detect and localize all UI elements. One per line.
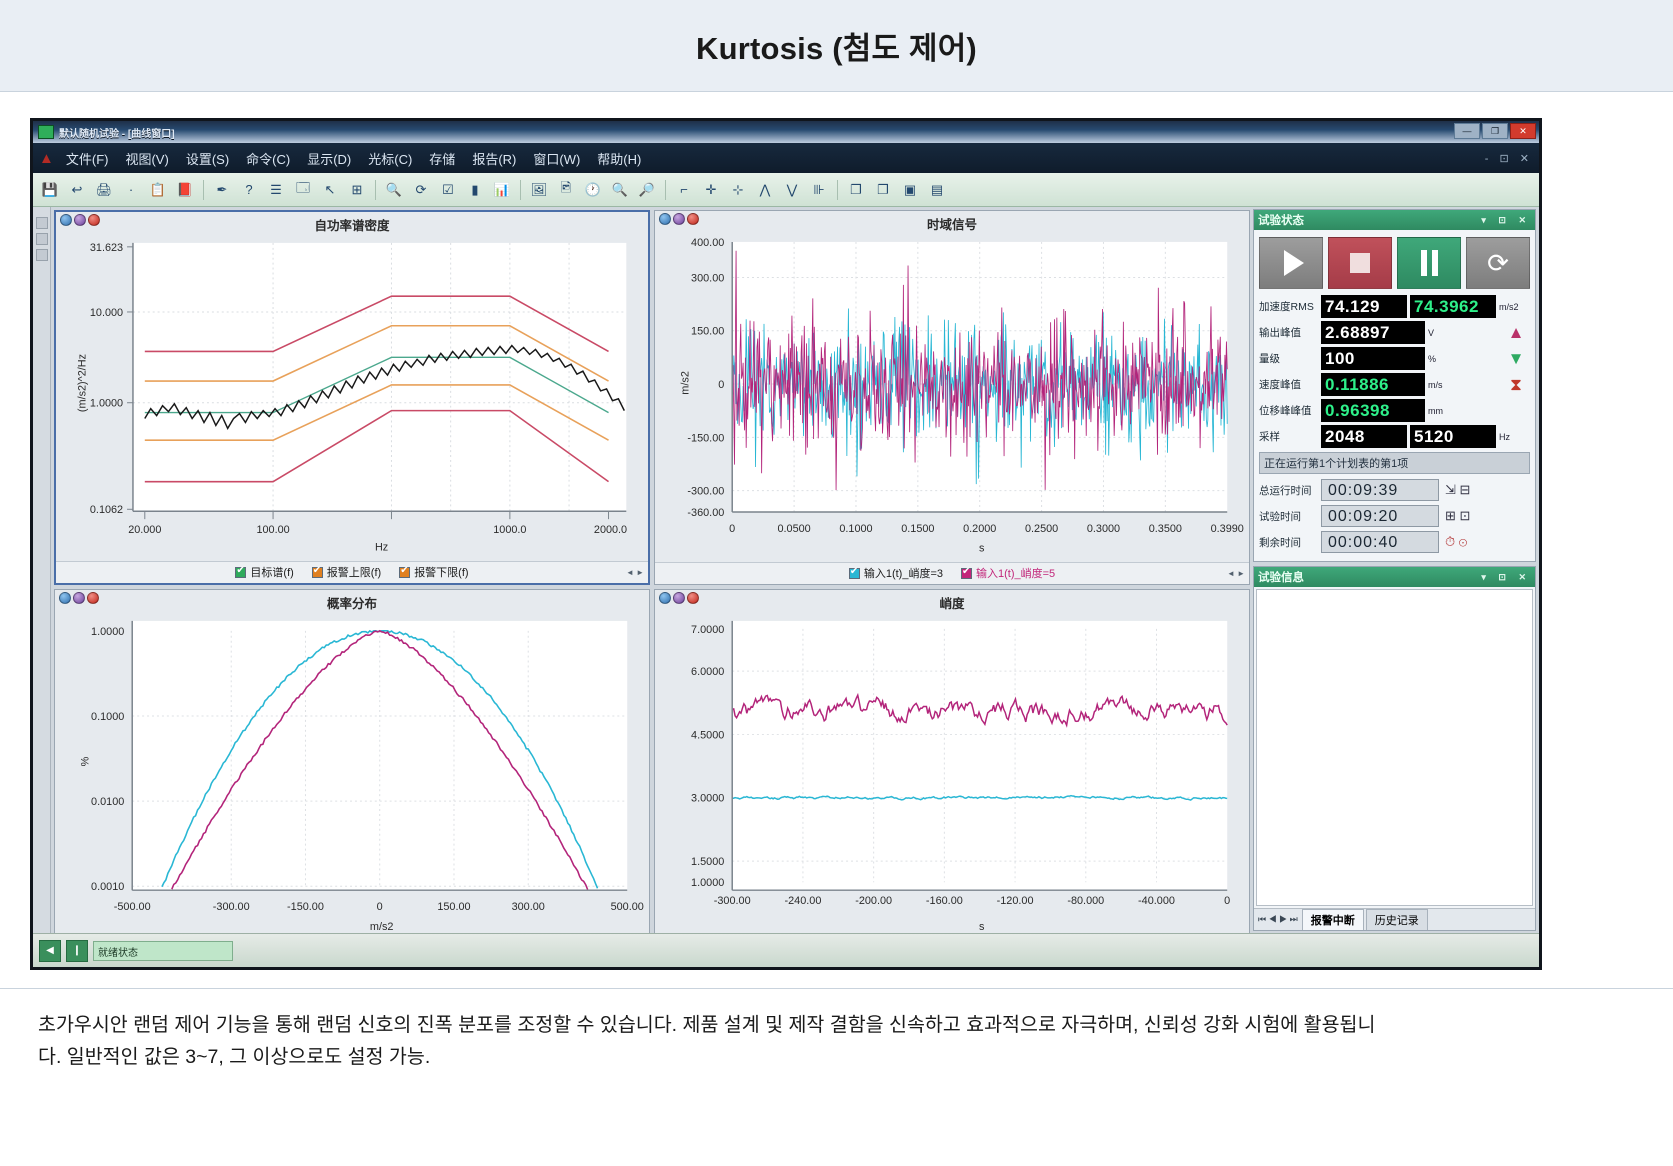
panel-close-icon[interactable] — [687, 592, 699, 604]
undo-icon[interactable]: ↩ — [65, 178, 89, 202]
test-status-panel: 试验状态 ▾ ⊡ ✕ ⟳ 加速度RMS — [1253, 209, 1536, 562]
pdf-xtick-0: -500.00 — [114, 901, 151, 913]
measurement-label: 采样 — [1259, 429, 1321, 444]
status-bar: ◀ ❙ 就绪状态 — [33, 933, 1539, 967]
kurt-ytick-3: 3.0000 — [691, 792, 724, 804]
save-icon[interactable]: 💾 — [38, 178, 62, 202]
tab-history[interactable]: 历史记录 — [1366, 909, 1428, 930]
rail-button-3[interactable] — [36, 249, 48, 261]
timer-label: 剩余时间 — [1259, 535, 1321, 550]
time-xtick-3: 0.1500 — [901, 523, 934, 535]
legend-checkbox[interactable] — [312, 567, 323, 578]
pause-button[interactable] — [1397, 237, 1461, 289]
help-icon[interactable]: ? — [237, 178, 261, 202]
crosshair-icon[interactable]: ⊹ — [726, 178, 750, 202]
test-status-header-buttons[interactable]: ▾ ⊡ ✕ — [1481, 215, 1531, 226]
test-info-header: 试验信息 ▾ ⊡ ✕ — [1254, 567, 1535, 587]
test-info-content[interactable] — [1256, 589, 1533, 906]
measurement-label: 加速度RMS — [1259, 299, 1321, 314]
caption-line-2: 다. 일반적인 값은 3~7, 그 이상으로도 설정 가능. — [38, 1041, 1635, 1073]
measurement-value-2: 74.3962 — [1410, 295, 1496, 318]
legend-checkbox[interactable] — [961, 568, 972, 579]
work-area: 自功率谱密度 — [33, 207, 1539, 933]
pdf-xtick-5: 300.00 — [512, 901, 545, 913]
measurement-label: 位移峰峰值 — [1259, 403, 1321, 418]
cross-icon[interactable]: ✛ — [699, 178, 723, 202]
caption-block: 초가우시안 랜덤 제어 기능을 통해 랜덤 신호의 진폭 분포를 조정할 수 있… — [0, 988, 1673, 1073]
window-title: 默认随机试验 - [曲线窗口] — [59, 125, 175, 140]
check-icon[interactable]: ☑ — [436, 178, 460, 202]
measurement-label: 量级 — [1259, 351, 1321, 366]
statusbar-field: 就绪状态 — [93, 941, 233, 961]
timer-value: 00:09:39 — [1321, 479, 1439, 501]
menu-bar: ▲ 文件(F) 视图(V) 设置(S) 命令(C) 显示(D) 光标(C) 存储… — [33, 143, 1539, 173]
rail-button-2[interactable] — [36, 233, 48, 245]
kurt-xtick-6: -40.000 — [1138, 895, 1175, 907]
measurement-value: 0.11886 — [1321, 373, 1425, 396]
left-rail — [33, 207, 51, 933]
page-header: Kurtosis (첨도 제어) — [0, 0, 1673, 92]
measurement-unit: Hz — [1499, 432, 1523, 442]
measurement-label: 速度峰值 — [1259, 377, 1321, 392]
psd-xtick-2: 1000.0 — [493, 524, 526, 536]
legend-item[interactable]: 输入1(t)_峭度=5 — [961, 565, 1055, 581]
pdf-ylabel: % — [80, 756, 92, 766]
measurement-unit: V — [1428, 328, 1452, 338]
time-xtick-2: 0.1000 — [839, 523, 872, 535]
timer-icons[interactable]: ⊞ ⊡ — [1445, 508, 1470, 524]
legend-item[interactable]: 目标谱(f) — [235, 564, 293, 580]
panel-close-icon[interactable] — [687, 213, 699, 225]
time-xtick-4: 0.2000 — [963, 523, 996, 535]
panel-time-plot[interactable]: 400.00300.00150.000-150.00-300.00-360.00… — [655, 234, 1249, 562]
menu-item-settings[interactable]: 设置(S) — [186, 149, 229, 168]
toolbar-separator — [375, 180, 376, 200]
refresh-icon[interactable]: ⟳ — [409, 178, 433, 202]
kurt-xtick-0: -300.00 — [714, 895, 751, 907]
legend-label: 输入1(t)_峭度=5 — [976, 565, 1055, 581]
stop-button[interactable] — [1328, 237, 1392, 289]
pen-icon[interactable]: ✒ — [210, 178, 234, 202]
timer-icons[interactable]: ⏱ ⊙ — [1445, 534, 1467, 550]
panel-time-title: 时域信号 — [655, 211, 1249, 234]
psd-xtick-0: 20.000 — [128, 524, 161, 536]
list-icon[interactable]: ☰ — [264, 178, 288, 202]
test-status-body: ⟳ 加速度RMS 74.129 74.3962 m/s2 输出峰值 2.6889… — [1254, 230, 1535, 561]
pdf-xtick-3: 0 — [377, 901, 383, 913]
timer-row-total: 总运行时间 00:09:39 ⇲ ⊟ — [1259, 479, 1530, 501]
panel-info-icon[interactable] — [659, 213, 671, 225]
measurement-unit: m/s2 — [1499, 302, 1523, 312]
timer-row-remaining: 剩余时间 00:00:40 ⏱ ⊙ — [1259, 531, 1530, 553]
test-info-tabs: ⏮ ◀ ▶ ⏭ 报警中断 历史记录 — [1254, 908, 1535, 930]
caption-line-1: 초가우시안 랜덤 제어 기능을 통해 랜덤 신호의 진폭 분포를 조정할 수 있… — [38, 1009, 1635, 1041]
copy-icon[interactable]: ❐ — [844, 178, 868, 202]
measurement-value: 2.68897 — [1321, 321, 1425, 344]
panel-psd-legend: 目标谱(f) 报警上限(f) 报警下限(f) ◄ ► — [56, 561, 648, 583]
psd-xlabel: Hz — [375, 542, 388, 554]
time-xtick-1: 0.0500 — [777, 523, 810, 535]
menu-item-file[interactable]: 文件(F) — [66, 149, 109, 168]
toolbar-separator — [203, 180, 204, 200]
pdf-xtick-4: 150.00 — [437, 901, 470, 913]
statusbar-button-1[interactable]: ◀ — [39, 940, 61, 962]
legend-scroll-buttons[interactable]: ◄ ► — [626, 568, 644, 577]
toolbar: 💾↩🖨·📋📕✒?☰🗔↖⊞🔍⟳☑▮📊🖼🖻🕐🔍🔎⌐✛⊹⋀⋁⊪❐❐▣▤ — [33, 173, 1539, 207]
window-controls: — ❐ ✕ — [1454, 123, 1536, 139]
psd-ytick-3: 0.1062 — [90, 504, 123, 516]
psd-xtick-1: 100.00 — [256, 524, 289, 536]
kurt-xtick-3: -160.00 — [926, 895, 963, 907]
pdf-icon[interactable]: 📕 — [173, 178, 197, 202]
kurt-ytick-0: 7.0000 — [691, 623, 724, 635]
menu-item-command[interactable]: 命令(C) — [246, 149, 290, 168]
panel-kurt-plot[interactable]: 7.00006.00004.50003.00001.50001.0000-300… — [655, 613, 1249, 940]
menu-item-help[interactable]: 帮助(H) — [597, 149, 641, 168]
kurt-ytick-2: 4.5000 — [691, 729, 724, 741]
time-xlabel: s — [979, 543, 985, 555]
timer-value: 00:00:40 — [1321, 531, 1439, 553]
layout-icon[interactable]: ▣ — [898, 178, 922, 202]
page-root: Kurtosis (첨도 제어) 默认随机试验 - [曲线窗口] — ❐ ✕ ▲… — [0, 0, 1673, 1166]
panel-kurtosis[interactable]: 峭度 7.00006.00004.50003.00001.50001.0000-… — [654, 589, 1250, 963]
panel-settings-icon[interactable] — [73, 592, 85, 604]
measurement-label: 输出峰值 — [1259, 325, 1321, 340]
arrow-down-icon: ▼ — [1508, 350, 1525, 367]
measurement-unit: mm — [1428, 406, 1452, 416]
legend-label: 报警下限(f) — [414, 564, 468, 580]
panel-info-icon[interactable] — [659, 592, 671, 604]
arrow-up-button[interactable]: ▲ — [1502, 324, 1530, 341]
mdi-window-controls[interactable]: - ⊡ ✕ — [1485, 152, 1533, 165]
time-ytick-5: -300.00 — [687, 486, 724, 498]
chart-icon[interactable]: 📊 — [490, 178, 514, 202]
zoom-page-icon[interactable]: 🔍 — [382, 178, 406, 202]
pdf-ytick-3: 0.0010 — [91, 881, 124, 893]
toolbar-separator — [837, 180, 838, 200]
measurement-value: 100 — [1321, 347, 1425, 370]
print-icon[interactable]: 🖨 — [92, 178, 116, 202]
timer-label: 试验时间 — [1259, 509, 1321, 524]
dot-icon[interactable]: · — [119, 178, 143, 202]
panel-psd-plot[interactable]: 31.623 10.000 1.0000 0.1062 20.000 100.0… — [56, 235, 648, 561]
close-button[interactable]: ✕ — [1510, 123, 1536, 139]
transport-controls: ⟳ — [1259, 237, 1530, 289]
measurement-row-output-peak: 输出峰值 2.68897 V ▲ — [1259, 321, 1530, 344]
panel-time-signal[interactable]: 时域信号 400.00300.00150.000-150.00-300.00-3… — [654, 210, 1250, 585]
timer-icons[interactable]: ⇲ ⊟ — [1445, 482, 1470, 498]
timer-label: 总运行时间 — [1259, 483, 1321, 498]
pdf-xtick-1: -300.00 — [213, 901, 250, 913]
window-icon[interactable]: 🗔 — [291, 178, 315, 202]
measurement-row-rms: 加速度RMS 74.129 74.3962 m/s2 — [1259, 295, 1530, 318]
legend-label: 报警上限(f) — [327, 564, 381, 580]
play-icon — [1284, 250, 1304, 276]
kurt-xtick-2: -200.00 — [855, 895, 892, 907]
reset-button[interactable]: ⟳ — [1466, 237, 1530, 289]
legend-checkbox[interactable] — [849, 568, 860, 579]
pdf-xlabel: m/s2 — [370, 920, 394, 932]
measurement-row-level: 量级 100 % ▼ — [1259, 347, 1530, 370]
photo-icon[interactable]: 🖻 — [554, 178, 578, 202]
tab-nav-buttons[interactable]: ⏮ ◀ ▶ ⏭ — [1254, 914, 1302, 925]
pdf-xtick-6: 500.00 — [611, 901, 644, 913]
kurt-xtick-7: 0 — [1224, 895, 1230, 907]
application-window-wrapper: 默认随机试验 - [曲线窗口] — ❐ ✕ ▲ 文件(F) 视图(V) 设置(S… — [30, 118, 1542, 970]
application-window: 默认随机试验 - [曲线窗口] — ❐ ✕ ▲ 文件(F) 视图(V) 设置(S… — [30, 118, 1542, 970]
panel-settings-icon[interactable] — [673, 592, 685, 604]
image-icon[interactable]: 🖼 — [527, 178, 551, 202]
legend-checkbox[interactable] — [399, 567, 410, 578]
rail-button-1[interactable] — [36, 217, 48, 229]
panel-info-icon[interactable] — [60, 214, 72, 226]
time-ytick-4: -150.00 — [687, 432, 724, 444]
kurt-ytick-1: 6.0000 — [691, 666, 724, 678]
time-xtick-8: 0.3990 — [1211, 523, 1244, 535]
test-status-title: 试验状态 — [1258, 212, 1304, 228]
test-info-header-buttons[interactable]: ▾ ⊡ ✕ — [1481, 572, 1531, 583]
toolbar-separator — [520, 180, 521, 200]
report-icon[interactable]: 📋 — [146, 178, 170, 202]
kurt-ytick-4: 1.5000 — [691, 856, 724, 868]
arrow-up-icon: ▲ — [1508, 324, 1525, 341]
time-ytick-6: -360.00 — [687, 507, 724, 519]
play-button[interactable] — [1259, 237, 1323, 289]
legend-label: 输入1(t)_峭度=3 — [864, 565, 943, 581]
pdf-ytick-1: 0.1000 — [91, 711, 124, 723]
psd-ytick-0: 31.623 — [90, 242, 123, 254]
measurement-value: 0.96398 — [1321, 399, 1425, 422]
pdf-xtick-2: -150.00 — [287, 901, 324, 913]
maximize-button[interactable]: ❐ — [1482, 123, 1508, 139]
kurt-xlabel: s — [979, 920, 985, 932]
time-xtick-6: 0.3000 — [1087, 523, 1120, 535]
app-icon — [38, 125, 54, 139]
cursor-icon[interactable]: ↖ — [318, 178, 342, 202]
hourglass-icon: ⧗ — [1510, 376, 1522, 393]
app-logo-icon: ▲ — [39, 151, 54, 166]
legend-item[interactable]: 报警上限(f) — [312, 564, 381, 580]
clock-icon[interactable]: 🕐 — [581, 178, 605, 202]
right-sidebar: 试验状态 ▾ ⊡ ✕ ⟳ 加速度RMS — [1253, 207, 1539, 933]
panel-info-icon[interactable] — [59, 592, 71, 604]
zoom-in-icon[interactable]: 🔍 — [608, 178, 632, 202]
time-ytick-0: 400.00 — [691, 237, 724, 249]
clone-icon[interactable]: ❐ — [871, 178, 895, 202]
time-ytick-3: 0 — [718, 379, 724, 391]
page-title: Kurtosis (첨도 제어) — [696, 23, 977, 68]
menu-item-display[interactable]: 显示(D) — [307, 149, 351, 168]
pause-icon — [1421, 250, 1438, 276]
pdf-ytick-0: 1.0000 — [91, 625, 124, 637]
panel-probability-distribution[interactable]: 概率分布 1.00000.10000.01000.0010-500.00-300… — [54, 589, 650, 963]
legend-item[interactable]: 输入1(t)_峭度=3 — [849, 565, 943, 581]
menu-item-report[interactable]: 报告(R) — [472, 149, 516, 168]
time-ylabel: m/s2 — [680, 371, 692, 395]
arrow-down-button[interactable]: ▼ — [1502, 350, 1530, 367]
peak-icon[interactable]: ⋀ — [753, 178, 777, 202]
time-ytick-1: 300.00 — [691, 272, 724, 284]
panel-pdf-title: 概率分布 — [55, 590, 649, 613]
layout2-icon[interactable]: ▤ — [925, 178, 949, 202]
minimize-button[interactable]: — — [1454, 123, 1480, 139]
valley-icon[interactable]: ⋁ — [780, 178, 804, 202]
panel-settings-icon[interactable] — [74, 214, 86, 226]
statusbar-button-2[interactable]: ❙ — [66, 940, 88, 962]
panel-pdf-plot[interactable]: 1.00000.10000.01000.0010-500.00-300.00-1… — [55, 613, 649, 940]
toolbar-separator — [665, 180, 666, 200]
measurement-row-displacement: 位移峰峰值 0.96398 mm — [1259, 399, 1530, 422]
legend-scroll-buttons[interactable]: ◄ ► — [1227, 569, 1245, 578]
panel-settings-icon[interactable] — [673, 213, 685, 225]
time-xtick-7: 0.3500 — [1149, 523, 1182, 535]
hourglass-button[interactable]: ⧗ — [1502, 376, 1530, 393]
legend-label: 目标谱(f) — [250, 564, 293, 580]
measurement-value-2: 5120 — [1410, 425, 1496, 448]
legend-item[interactable]: 报警下限(f) — [399, 564, 468, 580]
measurement-row-sampling: 采样 2048 5120 Hz — [1259, 425, 1530, 448]
panel-kurt-dots — [659, 592, 699, 604]
measurement-unit: % — [1428, 354, 1452, 364]
test-info-title: 试验信息 — [1258, 569, 1304, 585]
kurt-ytick-5: 1.0000 — [691, 877, 724, 889]
time-ytick-2: 150.00 — [691, 326, 724, 338]
bar-icon[interactable]: ▮ — [463, 178, 487, 202]
chart-grid: 自功率谱密度 — [51, 207, 1253, 933]
panel-time-dots — [659, 213, 699, 225]
spectrum-icon[interactable]: ⊪ — [807, 178, 831, 202]
panel-time-legend: 输入1(t)_峭度=3 输入1(t)_峭度=5 ◄ ► — [655, 562, 1249, 584]
zoom-out-icon[interactable]: 🔎 — [635, 178, 659, 202]
reset-icon: ⟳ — [1487, 250, 1509, 276]
panel-close-icon[interactable] — [88, 214, 100, 226]
kurt-xtick-1: -240.00 — [784, 895, 821, 907]
menu-item-cursor[interactable]: 光标(C) — [368, 149, 412, 168]
panel-pdf-dots — [59, 592, 99, 604]
panel-kurt-title: 峭度 — [655, 590, 1249, 613]
time-xtick-5: 0.2500 — [1025, 523, 1058, 535]
corner-icon[interactable]: ⌐ — [672, 178, 696, 202]
timer-value: 00:09:20 — [1321, 505, 1439, 527]
kurt-xtick-5: -80.000 — [1067, 895, 1104, 907]
panel-psd-title: 自功率谱密度 — [56, 212, 648, 235]
psd-ylabel: (m/s2)^2/Hz — [77, 354, 89, 412]
stop-icon — [1350, 253, 1370, 273]
measurement-row-velocity-peak: 速度峰值 0.11886 m/s ⧗ — [1259, 373, 1530, 396]
pdf-ytick-2: 0.0100 — [91, 796, 124, 808]
kurt-xtick-4: -120.00 — [997, 895, 1034, 907]
psd-ytick-1: 10.000 — [90, 307, 123, 319]
panel-close-icon[interactable] — [87, 592, 99, 604]
menu-item-window[interactable]: 窗口(W) — [533, 149, 580, 168]
test-info-panel: 试验信息 ▾ ⊡ ✕ ⏮ ◀ ▶ ⏭ 报警中断 历史记录 — [1253, 566, 1536, 931]
panel-psd[interactable]: 自功率谱密度 — [54, 210, 650, 585]
timer-row-test: 试验时间 00:09:20 ⊞ ⊡ — [1259, 505, 1530, 527]
menu-item-view[interactable]: 视图(V) — [125, 149, 168, 168]
time-xtick-0: 0 — [729, 523, 735, 535]
grid-icon[interactable]: ⊞ — [345, 178, 369, 202]
test-status-header: 试验状态 ▾ ⊡ ✕ — [1254, 210, 1535, 230]
run-status-banner: 正在运行第1个计划表的第1项 — [1259, 452, 1530, 474]
measurement-unit: m/s — [1428, 380, 1452, 390]
window-titlebar: 默认随机试验 - [曲线窗口] — ❐ ✕ — [33, 121, 1539, 143]
legend-checkbox[interactable] — [235, 567, 246, 578]
tab-alarm-interrupt[interactable]: 报警中断 — [1302, 909, 1364, 930]
menu-item-storage[interactable]: 存储 — [429, 149, 455, 168]
measurement-value: 74.129 — [1321, 295, 1407, 318]
measurement-value: 2048 — [1321, 425, 1407, 448]
psd-xtick-3: 2000.0 — [594, 524, 627, 536]
psd-ytick-2: 1.0000 — [90, 398, 123, 410]
panel-psd-dots — [60, 214, 100, 226]
